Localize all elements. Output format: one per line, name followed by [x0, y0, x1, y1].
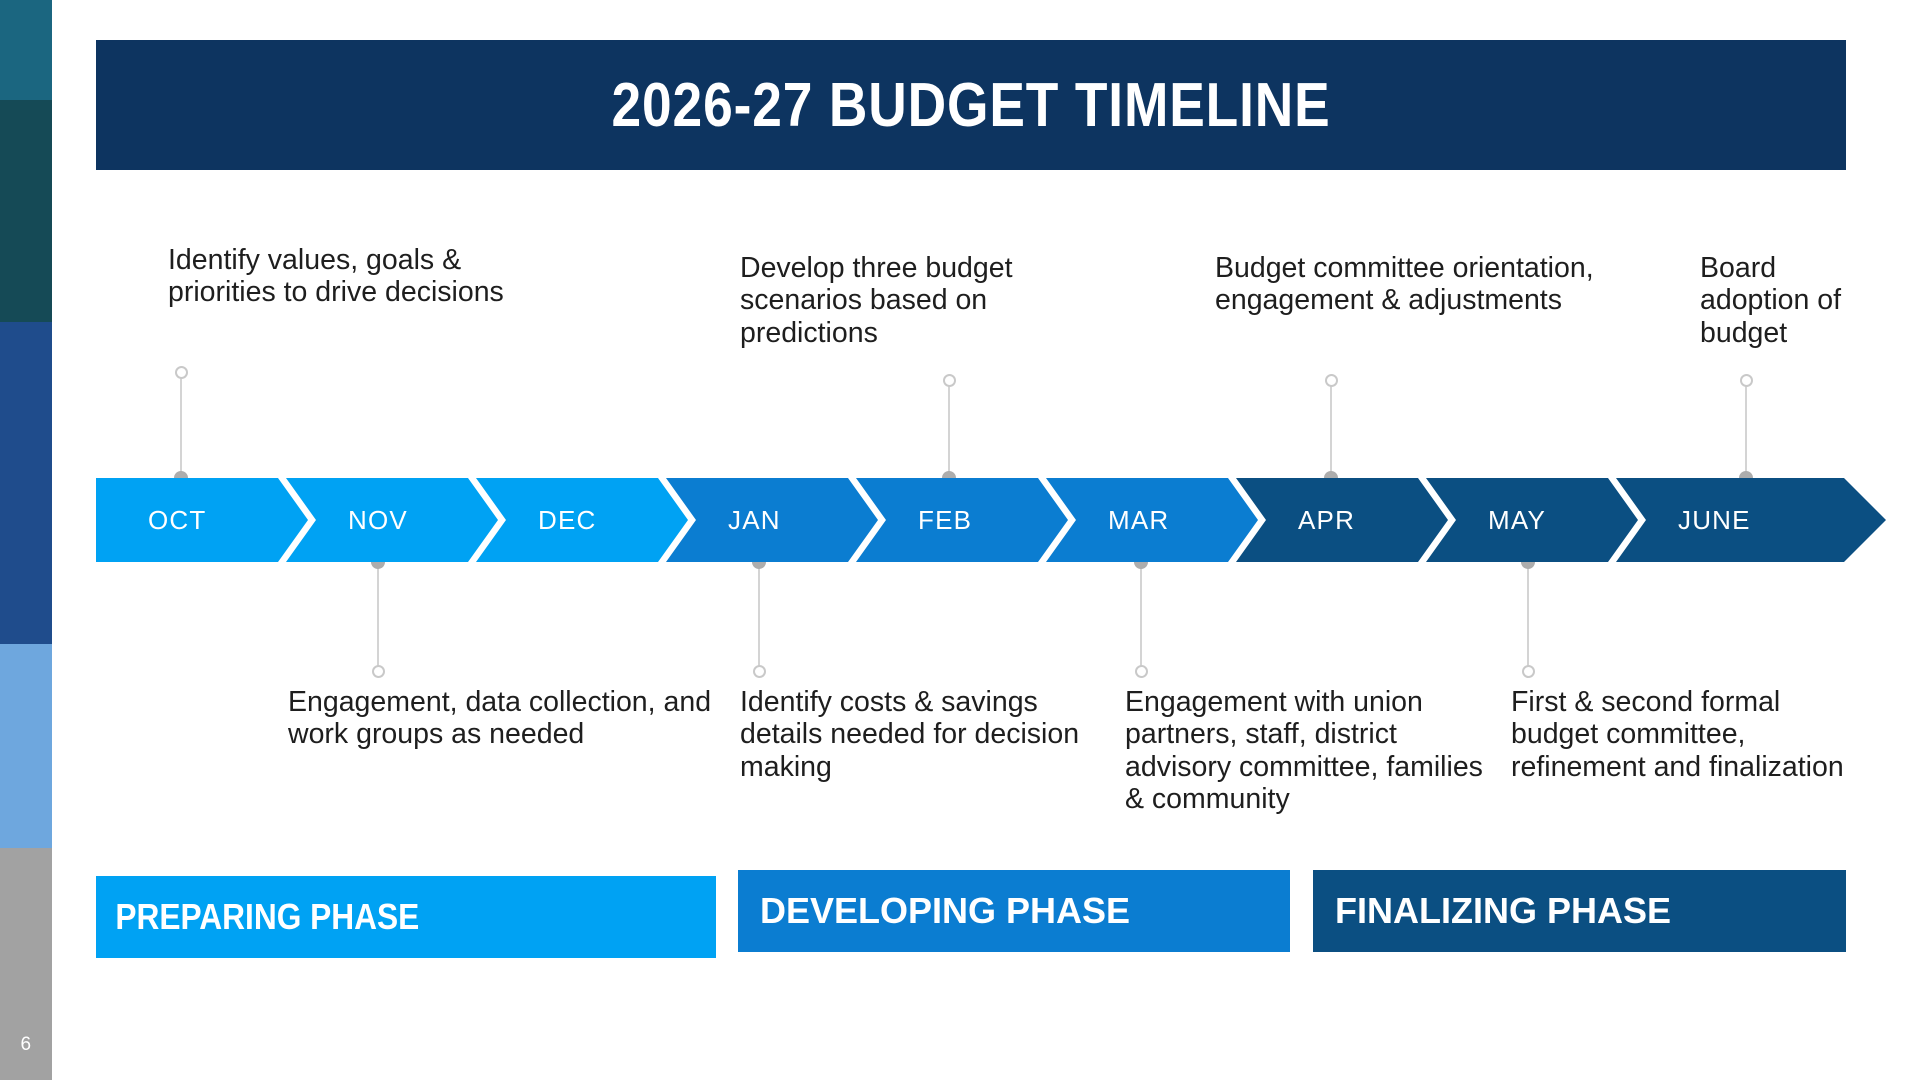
timeline-segment-label: MAR: [1108, 505, 1169, 536]
page-number: 6: [0, 1034, 52, 1056]
connector-line: [1330, 380, 1332, 478]
timeline-segment-may[interactable]: MAY: [1426, 478, 1638, 562]
callout-text-mar: Engagement with union partners, staff, d…: [1125, 686, 1495, 815]
timeline-segment-label: DEC: [538, 505, 597, 536]
connector-ring-icon: [1135, 665, 1148, 678]
slide-canvas: 6 2026-27 BUDGET TIMELINE Identify value…: [0, 0, 1918, 1080]
timeline-segment-jan[interactable]: JAN: [666, 478, 878, 562]
timeline-segment-feb[interactable]: FEB: [856, 478, 1068, 562]
timeline-segment-mar[interactable]: MAR: [1046, 478, 1258, 562]
connector-line: [1745, 380, 1747, 478]
sidebar-color-strip: [0, 0, 52, 1080]
connector-line: [1140, 562, 1142, 672]
timeline-segment-nov[interactable]: NOV: [286, 478, 498, 562]
phase-bar-label: PREPARING PHASE: [96, 896, 419, 938]
phase-bar-finalizing[interactable]: FINALIZING PHASE: [1313, 870, 1846, 952]
connector-ring-icon: [1325, 374, 1338, 387]
timeline-segment-apr[interactable]: APR: [1236, 478, 1448, 562]
callout-text-may: First & second formal budget committee, …: [1511, 686, 1851, 783]
title-banner: 2026-27 BUDGET TIMELINE: [96, 40, 1846, 170]
timeline-segment-label: JUNE: [1678, 505, 1751, 536]
timeline-arrow: OCTNOVDECJANFEBMARAPRMAYJUNE: [96, 478, 1886, 562]
connector-line: [377, 562, 379, 672]
timeline-segment-june[interactable]: JUNE: [1616, 478, 1886, 562]
connector-line: [1527, 562, 1529, 672]
timeline-segment-oct[interactable]: OCT: [96, 478, 308, 562]
callout-text-feb: Develop three budget scenarios based on …: [740, 252, 1085, 349]
band-light-blue: [0, 644, 52, 848]
connector-line: [758, 562, 760, 672]
connector-line: [180, 372, 182, 478]
connector-ring-icon: [1522, 665, 1535, 678]
timeline-segment-label: NOV: [348, 505, 408, 536]
callout-text-june: Board adoption of budget: [1700, 252, 1890, 349]
timeline-segment-label: OCT: [148, 505, 206, 536]
callout-text-oct: Identify values, goals & priorities to d…: [168, 244, 538, 309]
phase-bar-label: FINALIZING PHASE: [1313, 890, 1671, 932]
connector-ring-icon: [175, 366, 188, 379]
timeline-segment-dec[interactable]: DEC: [476, 478, 688, 562]
band-teal: [0, 0, 52, 100]
callout-text-nov: Engagement, data collection, and work gr…: [288, 686, 718, 751]
phase-bar-preparing[interactable]: PREPARING PHASE: [96, 876, 716, 958]
connector-line: [948, 380, 950, 478]
phase-bar-label: DEVELOPING PHASE: [738, 890, 1130, 932]
page-title: 2026-27 BUDGET TIMELINE: [611, 70, 1330, 141]
timeline-segment-label: FEB: [918, 505, 972, 536]
callout-text-apr: Budget committee orientation, engagement…: [1215, 252, 1645, 317]
connector-ring-icon: [1740, 374, 1753, 387]
timeline-segment-label: JAN: [728, 505, 781, 536]
connector-ring-icon: [943, 374, 956, 387]
timeline-segment-label: APR: [1298, 505, 1355, 536]
band-royal-blue: [0, 322, 52, 644]
connector-ring-icon: [372, 665, 385, 678]
connector-ring-icon: [753, 665, 766, 678]
band-dark-teal: [0, 100, 52, 322]
callout-text-jan: Identify costs & savings details needed …: [740, 686, 1115, 783]
phase-bar-developing[interactable]: DEVELOPING PHASE: [738, 870, 1290, 952]
timeline-segment-label: MAY: [1488, 505, 1546, 536]
